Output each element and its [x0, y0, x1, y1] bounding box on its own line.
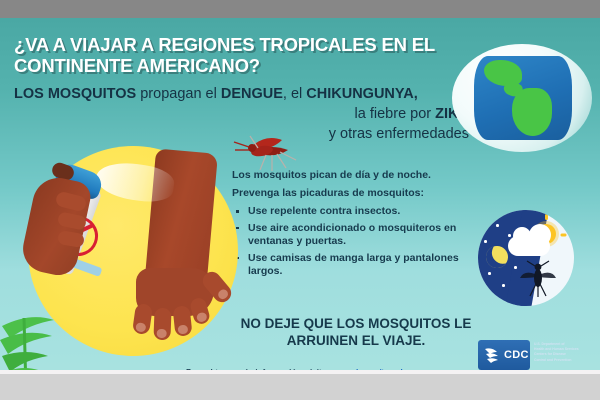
- subhead-bold-chikungunya: CHIKUNGUNYA,: [306, 86, 417, 102]
- cdc-badge: CDC: [478, 340, 530, 370]
- bullet-text: Use camisas de manga larga y pantalones …: [248, 252, 459, 278]
- cdc-logo: CDC U.S. Department of Health and Human …: [478, 338, 590, 370]
- bottom-frame-bar: [0, 374, 600, 400]
- list-item: Use aire acondicionado o mosquiteros en …: [232, 222, 477, 249]
- bullet-text: Use repelente contra insectos.: [248, 205, 400, 217]
- bullet-text: Use aire acondicionado o mosquiteros en …: [248, 222, 456, 248]
- list-item: Use repelente contra insectos.: [232, 205, 477, 219]
- subhead-separator: , el: [283, 86, 306, 102]
- list-item: Use camisas de manga larga y pantalones …: [232, 252, 477, 279]
- body-copy: Los mosquitos pican de día y de noche. P…: [232, 168, 477, 282]
- prevention-list: Use repelente contra insectos. Use aire …: [232, 205, 477, 279]
- agency-line: Control and Prevention: [534, 358, 590, 363]
- body-line-1: Los mosquitos pican de día y de noche.: [232, 168, 477, 184]
- call-to-action: NO DEJE QUE LOS MOSQUITOS LE ARRUINEN EL…: [222, 316, 490, 349]
- day-night-mosquito-icon: [478, 210, 574, 306]
- hhs-eagle-icon: [482, 345, 502, 365]
- globe-americas-icon: [474, 56, 572, 140]
- page-title: ¿VA A VIAJAR A REGIONES TROPICALES EN EL…: [14, 34, 464, 76]
- body-line-2: Prevenga las picaduras de mosquitos:: [232, 186, 477, 202]
- red-mosquito-icon: [222, 126, 304, 174]
- palm-leaves-icon: [0, 306, 96, 370]
- bullet-dot-icon: [236, 210, 239, 213]
- agency-name: U.S. Department of Health and Human Serv…: [534, 342, 590, 363]
- mosquito-silhouette-icon: [518, 258, 558, 298]
- cloud-icon: [508, 236, 550, 256]
- top-frame-bar: [0, 0, 600, 18]
- poster-canvas: ¿VA A VIAJAR A REGIONES TROPICALES EN EL…: [0, 18, 600, 370]
- subhead-mid-text: propagan el: [136, 86, 221, 102]
- subhead-bold-dengue: DENGUE: [221, 86, 283, 102]
- subhead-bold-mosquitos: LOS MOSQUITOS: [14, 86, 136, 102]
- subhead-zika-lead: la fiebre por: [355, 106, 436, 122]
- infographic-poster: ¿VA A VIAJAR A REGIONES TROPICALES EN EL…: [0, 0, 600, 400]
- hand-illustration: [130, 268, 230, 334]
- cdc-wordmark: CDC: [504, 349, 529, 361]
- bullet-dot-icon: [236, 227, 239, 230]
